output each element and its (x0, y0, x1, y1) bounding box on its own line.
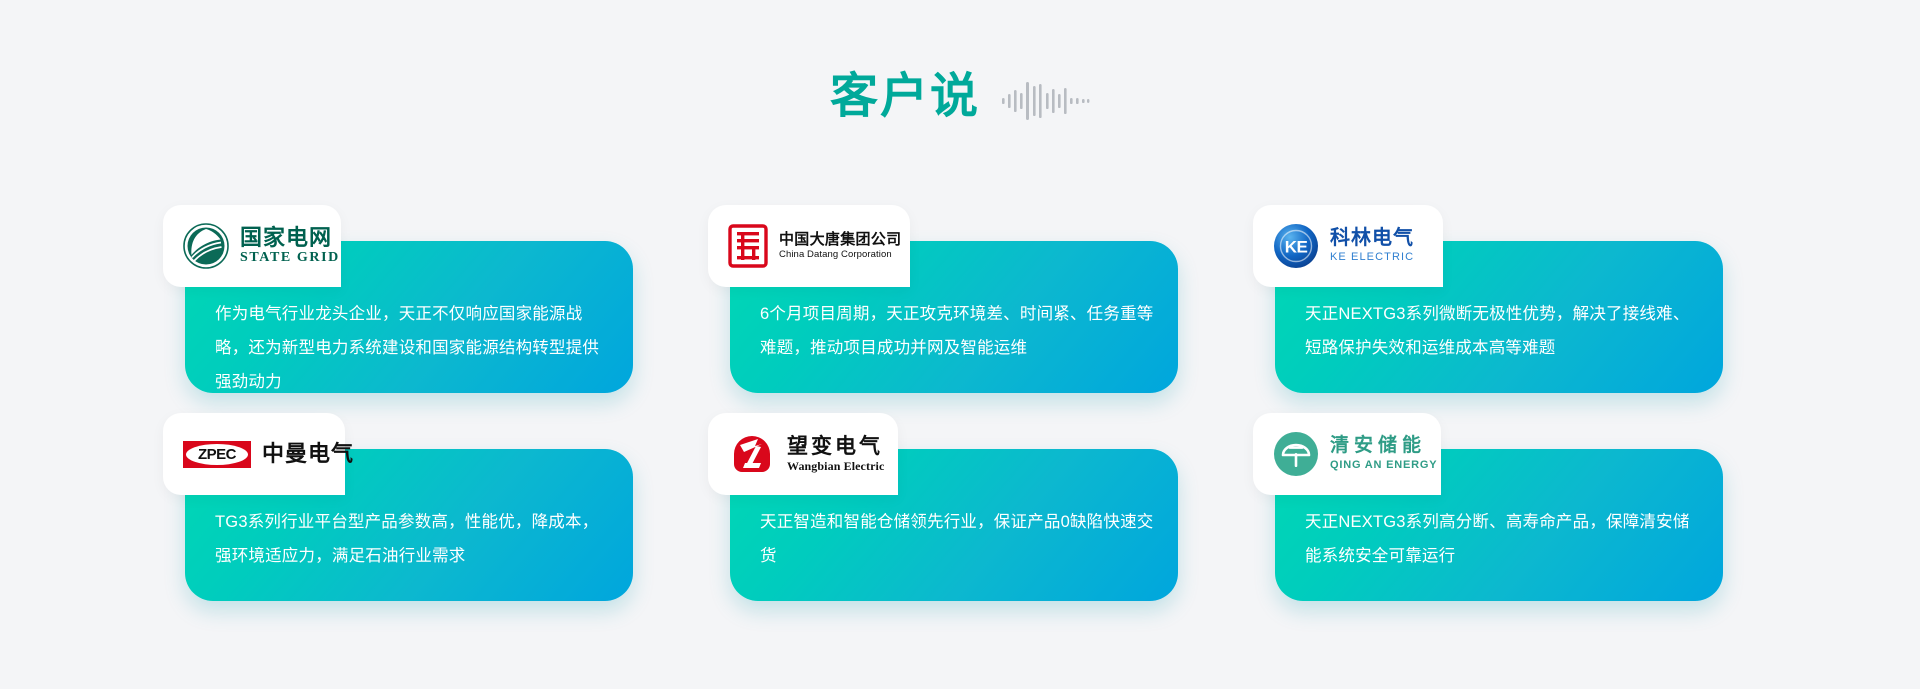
audio-waveform-icon (1002, 80, 1090, 122)
datang-tang-seal-icon (728, 224, 768, 268)
state-grid-globe-icon (183, 223, 229, 269)
page-title: 客户说 (830, 73, 980, 121)
logo-text: 科林电气 KE ELECTRIC (1330, 228, 1414, 264)
logo-badge-wangbian-electric: 望变电气 Wangbian Electric (708, 413, 898, 495)
logo-name-cn: 中曼电气 (262, 442, 354, 465)
logo-badge-zpec: ZPEC 中曼电气 (163, 413, 345, 495)
logo-badge-china-datang: 中国大唐集团公司 China Datang Corporation (708, 205, 910, 287)
svg-text:KE: KE (1285, 238, 1308, 257)
testimonial-card[interactable]: KE 科林电气 KE ELECTRIC 天正NEXTG3系列微断无极性优势，解决… (1253, 205, 1723, 393)
customer-testimonials-page: 客户说 (0, 0, 1920, 689)
logo-text: 望变电气 Wangbian Electric (787, 436, 884, 473)
testimonial-quote: 天正NEXTG3系列高分断、高寿命产品，保障清安储能系统安全可靠运行 (1305, 505, 1705, 573)
logo-text: 中曼电气 (262, 442, 354, 465)
logo-name-en: Wangbian Electric (787, 460, 884, 473)
testimonial-quote: 作为电气行业龙头企业，天正不仅响应国家能源战略，还为新型电力系统建设和国家能源结… (215, 297, 615, 399)
ke-circle-icon: KE (1273, 223, 1319, 269)
testimonial-quote: 天正智造和智能仓储领先行业，保证产品0缺陷快速交货 (760, 505, 1160, 573)
testimonial-quote: TG3系列行业平台型产品参数高，性能优，降成本，强环境适应力，满足石油行业需求 (215, 505, 615, 573)
logo-name-cn: 国家电网 (240, 226, 340, 249)
testimonial-card[interactable]: 清安储能 QING AN ENERGY 天正NEXTG3系列高分断、高寿命产品，… (1253, 413, 1723, 601)
testimonial-quote: 6个月项目周期，天正攻克环境差、时间紧、任务重等难题，推动项目成功并网及智能运维 (760, 297, 1160, 365)
logo-text: 清安储能 QING AN ENERGY (1330, 436, 1437, 471)
logo-name-cn: 望变电气 (787, 436, 884, 458)
zpec-plate-icon: ZPEC (183, 441, 251, 468)
logo-name-cn: 中国大唐集团公司 (779, 232, 901, 248)
testimonial-card[interactable]: 国家电网 STATE GRID 作为电气行业龙头企业，天正不仅响应国家能源战略，… (163, 205, 633, 393)
logo-badge-ke-electric: KE 科林电气 KE ELECTRIC (1253, 205, 1443, 287)
logo-badge-qingan-energy: 清安储能 QING AN ENERGY (1253, 413, 1441, 495)
testimonial-card[interactable]: 望变电气 Wangbian Electric 天正智造和智能仓储领先行业，保证产… (708, 413, 1178, 601)
logo-name-en: KE ELECTRIC (1330, 252, 1414, 264)
section-header: 客户说 (0, 72, 1920, 122)
logo-name-cn: 科林电气 (1330, 228, 1414, 249)
logo-name-cn: 清安储能 (1330, 436, 1437, 456)
logo-badge-state-grid: 国家电网 STATE GRID (163, 205, 341, 287)
testimonial-quote: 天正NEXTG3系列微断无极性优势，解决了接线难、短路保护失效和运维成本高等难题 (1305, 297, 1705, 365)
qingan-umbrella-icon (1273, 431, 1319, 477)
logo-text: 中国大唐集团公司 China Datang Corporation (779, 232, 901, 261)
testimonial-card[interactable]: 中国大唐集团公司 China Datang Corporation 6个月项目周… (708, 205, 1178, 393)
testimonial-card-grid: 国家电网 STATE GRID 作为电气行业龙头企业，天正不仅响应国家能源战略，… (163, 205, 1763, 601)
zpec-wordmark: ZPEC (198, 446, 236, 463)
logo-text: 国家电网 STATE GRID (240, 226, 340, 266)
logo-name-en: QING AN ENERGY (1330, 460, 1437, 472)
logo-name-en: STATE GRID (240, 251, 340, 266)
testimonial-card[interactable]: ZPEC 中曼电气 TG3系列行业平台型产品参数高，性能优，降成本，强环境适应力… (163, 413, 633, 601)
logo-name-en: China Datang Corporation (779, 250, 901, 260)
wangbian-circle-icon (728, 430, 776, 478)
